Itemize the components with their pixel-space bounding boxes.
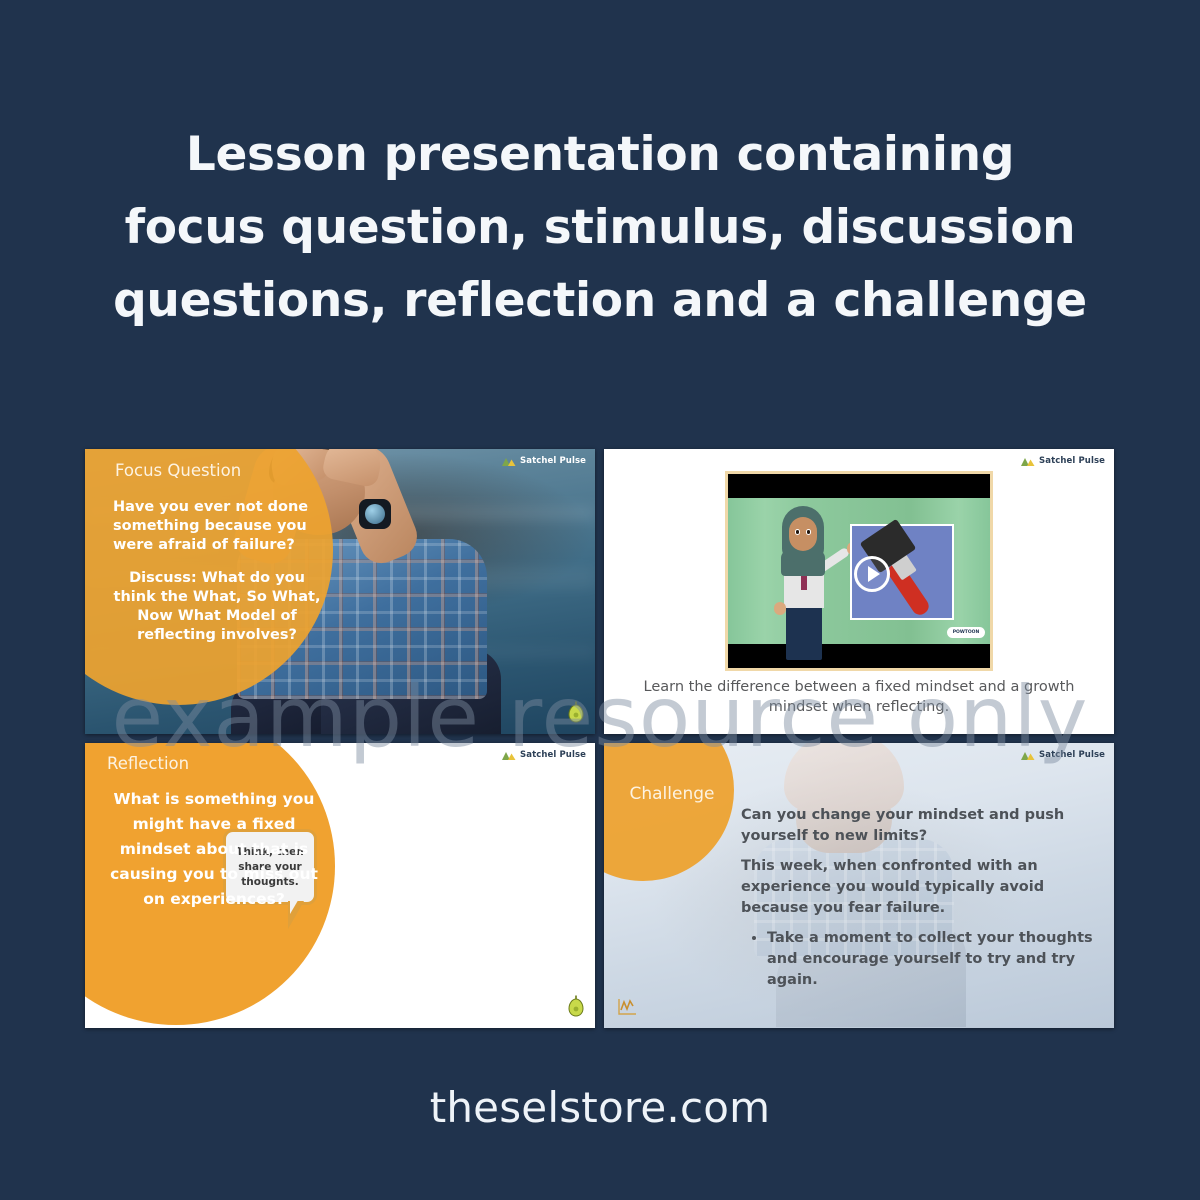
satchel-pulse-logo-text: Satchel Pulse	[1039, 750, 1105, 760]
slide-grid: Focus Question Have you ever not done so…	[85, 449, 1114, 1034]
slide-label-focus-question: Focus Question	[115, 461, 241, 480]
challenge-bullet-item: Take a moment to collect your thoughts a…	[767, 928, 1100, 991]
focus-question-paragraph-1: Have you ever not done something because…	[113, 498, 328, 555]
powtoon-watermark: POWTOON	[947, 627, 985, 638]
animated-character	[768, 506, 840, 656]
challenge-paragraph-1: Can you change your mindset and push you…	[741, 805, 1100, 847]
paintbrush-thumbnail	[850, 524, 954, 620]
satchel-pulse-logo: Satchel Pulse	[502, 750, 586, 760]
satchel-pulse-logo-text: Satchel Pulse	[520, 750, 586, 760]
mountain-icon	[1021, 456, 1035, 466]
pear-icon	[567, 701, 585, 728]
page-title-line-2: focus question, stimulus, discussion	[0, 191, 1200, 264]
mountain-icon	[502, 750, 516, 760]
slide-label-reflection: Reflection	[107, 754, 189, 773]
video-player[interactable]: POWTOON	[725, 471, 993, 671]
satchel-pulse-logo: Satchel Pulse	[502, 456, 586, 466]
satchel-pulse-logo: Satchel Pulse	[1021, 750, 1105, 760]
slide-stimulus-video[interactable]: POWTOON Learn the difference between a f…	[604, 449, 1114, 734]
video-caption: Learn the difference between a fixed min…	[612, 677, 1106, 717]
reflection-paragraph: What is something you might have a fixed…	[99, 787, 329, 912]
pear-icon	[567, 995, 585, 1022]
wristwatch	[359, 499, 391, 529]
video-scene: POWTOON	[728, 498, 990, 644]
satchel-pulse-logo-text: Satchel Pulse	[1039, 456, 1105, 466]
slide-reflection[interactable]: Reflection What is something you might h…	[85, 743, 595, 1028]
mountain-icon	[502, 456, 516, 466]
challenge-bullet-list: Take a moment to collect your thoughts a…	[741, 928, 1100, 991]
slide-focus-question[interactable]: Focus Question Have you ever not done so…	[85, 449, 595, 734]
satchel-pulse-logo-text: Satchel Pulse	[520, 456, 586, 466]
satchel-pulse-logo: Satchel Pulse	[1021, 456, 1105, 466]
line-chart-icon	[616, 997, 638, 1022]
focus-question-paragraph-2: Discuss: What do you think the What, So …	[109, 569, 325, 645]
slide-challenge[interactable]: Challenge Can you change your mindset an…	[604, 743, 1114, 1028]
slide-label-challenge: Challenge	[612, 784, 732, 804]
challenge-paragraph-2: This week, when confronted with an exper…	[741, 856, 1100, 919]
footer-url: theselstore.com	[0, 1083, 1200, 1132]
mountain-icon	[1021, 750, 1035, 760]
challenge-body: Can you change your mindset and push you…	[741, 805, 1100, 991]
page-title: Lesson presentation containing focus que…	[0, 118, 1200, 337]
page-title-line-1: Lesson presentation containing	[0, 118, 1200, 191]
page-title-line-3: questions, reflection and a challenge	[0, 264, 1200, 337]
play-button[interactable]	[854, 556, 890, 592]
